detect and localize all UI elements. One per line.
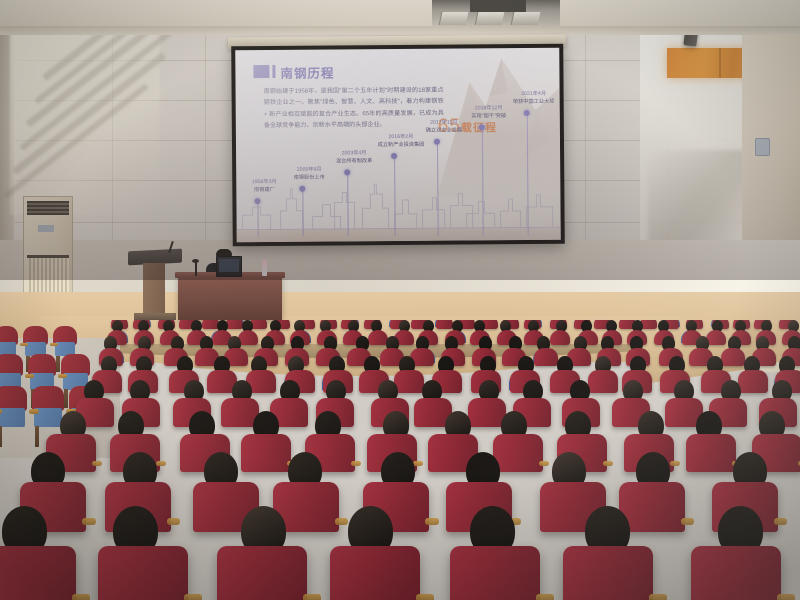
podium — [128, 250, 182, 320]
seat-armrest — [20, 343, 28, 347]
seat-armrest — [72, 594, 90, 600]
slide-surface: 南钢历程 南钢始建于1958年，是我国"第二个五年计划"时期建设的18家重点钢铁… — [235, 48, 560, 243]
seat-armrest — [351, 461, 361, 466]
audience-seat — [394, 370, 424, 393]
seat-back-panel — [0, 408, 25, 427]
auditorium-photo: 南钢历程 南钢始建于1958年，是我国"第二个五年计划"时期建设的18家重点钢铁… — [0, 0, 800, 600]
slide-title-accent-bar — [272, 65, 275, 78]
slide-footer-band — [237, 228, 561, 243]
timeline-dot — [434, 139, 440, 145]
audience-seat — [691, 546, 781, 600]
seat-armrest — [0, 409, 2, 414]
seat-leg — [64, 389, 68, 407]
ac-grill — [27, 201, 69, 215]
seat-armrest — [536, 594, 554, 600]
slide-title: 南钢历程 — [280, 62, 334, 81]
timeline-label: 2000年9月南钢股份上市 — [273, 166, 345, 182]
seat-armrest — [670, 461, 680, 466]
seat-armrest — [303, 594, 321, 600]
audience-seat — [738, 370, 768, 393]
timeline-event: 成立新产业投资集团 — [365, 141, 437, 149]
timeline-label: 2016年2月成立新产业投资集团 — [365, 134, 437, 150]
timeline-dot — [391, 153, 397, 159]
audience-seat — [721, 348, 745, 366]
audience-seat — [241, 434, 291, 472]
podium-column — [143, 263, 165, 315]
timeline-label: 2003年4月混合所有制改革 — [318, 150, 390, 166]
seat-armrest — [416, 594, 434, 600]
projector-icon — [470, 0, 526, 12]
seat-armrest — [681, 518, 694, 525]
timeline-label: 2017年11月确立双主业发展 — [408, 119, 480, 135]
timeline-event: 实现"超千"突破 — [453, 113, 525, 121]
timeline-dot — [254, 198, 260, 204]
audience-seat — [226, 320, 243, 329]
seat-armrest — [167, 518, 180, 525]
laptop — [216, 256, 242, 277]
audience-seat — [98, 546, 188, 600]
seat-armrest — [58, 374, 67, 378]
seat-armrest — [92, 461, 102, 466]
laptop-screen — [219, 259, 239, 272]
wall-switch — [755, 138, 770, 156]
seat-armrest — [82, 518, 95, 525]
audience-seat — [534, 348, 558, 366]
timeline-label: 2018年12月实现"超千"突破 — [453, 105, 525, 121]
audience-seat — [686, 434, 736, 472]
seat-armrest — [50, 343, 58, 347]
seat-armrest — [539, 461, 549, 466]
timeline-event: 荣获中国工业大奖 — [498, 98, 561, 106]
timeline-event: 确立双主业发展 — [408, 127, 480, 135]
audience-seat — [0, 546, 76, 600]
slide-title-accent-bar — [253, 65, 269, 78]
seat-leg — [35, 426, 40, 447]
audience-seat — [550, 330, 570, 345]
podium-base — [134, 313, 176, 320]
timeline-dot — [344, 169, 350, 175]
seat-armrest — [603, 461, 613, 466]
seat-armrest — [29, 409, 40, 414]
timeline-label: 2021年4月荣获中国工业大奖 — [498, 91, 561, 107]
seat-armrest — [184, 594, 202, 600]
audience-seat — [450, 546, 540, 600]
audience-seating — [0, 320, 800, 600]
seat-armrest — [335, 518, 348, 525]
projection-screen: 南钢历程 南钢始建于1958年，是我国"第二个五年计划"时期建设的18家重点钢铁… — [231, 44, 565, 247]
seat-armrest — [156, 461, 166, 466]
ceiling-band — [0, 26, 800, 35]
audience-seat — [563, 546, 653, 600]
timeline-event: 南钢建厂 — [235, 187, 300, 195]
audience-seat — [238, 330, 258, 345]
timeline-dot — [479, 124, 485, 130]
audience-seat — [468, 398, 506, 427]
timeline-dot — [524, 110, 530, 116]
seat-leg — [56, 356, 60, 372]
timeline-event: 混合所有制改革 — [318, 158, 390, 166]
water-bottle — [262, 259, 267, 276]
audience-seat — [493, 434, 543, 472]
presenter-table — [178, 276, 282, 320]
seat-armrest — [25, 374, 34, 378]
seat-armrest — [774, 518, 787, 525]
ac-label — [38, 225, 54, 232]
timeline-dot — [299, 186, 305, 192]
audience-seat — [217, 546, 307, 600]
seat-armrest — [425, 518, 438, 525]
desk-microphone-icon — [195, 262, 197, 276]
audience-seat — [330, 546, 420, 600]
seat-armrest — [649, 594, 667, 600]
seat-armrest — [777, 594, 795, 600]
audience-seat — [436, 320, 453, 329]
audience-seat — [588, 370, 618, 393]
seat-leg — [0, 426, 2, 447]
timeline-event: 南钢股份上市 — [273, 174, 345, 182]
audience-seat — [706, 330, 726, 345]
